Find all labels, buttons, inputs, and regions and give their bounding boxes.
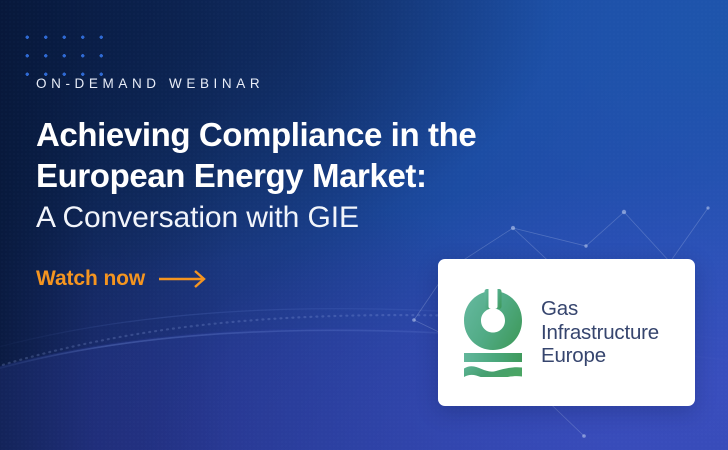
gie-ring-and-waves-icon [462,289,524,377]
dot-grid-pattern-icon [16,26,108,82]
logo-line-gas: Gas [541,297,659,321]
gie-logo-wordmark: Gas Infrastructure Europe [541,297,659,369]
banner-content: ON-DEMAND WEBINAR Achieving Compliance i… [36,76,506,291]
logo-line-infrastructure: Infrastructure [541,321,659,345]
page-title: Achieving Compliance in the European Ene… [36,115,506,197]
arrow-right-icon [158,269,210,289]
watch-now-button[interactable]: Watch now [36,267,210,291]
eyebrow-label: ON-DEMAND WEBINAR [36,76,506,91]
subheadline: A Conversation with GIE [36,199,506,236]
gie-logo-card: Gas Infrastructure Europe [438,259,695,406]
watch-now-label: Watch now [36,267,145,291]
headline-line-1: Achieving Compliance in the [36,115,506,156]
webinar-promo-banner: ON-DEMAND WEBINAR Achieving Compliance i… [0,0,728,450]
logo-line-europe: Europe [541,344,659,368]
headline-line-2: European Energy Market: [36,156,506,197]
